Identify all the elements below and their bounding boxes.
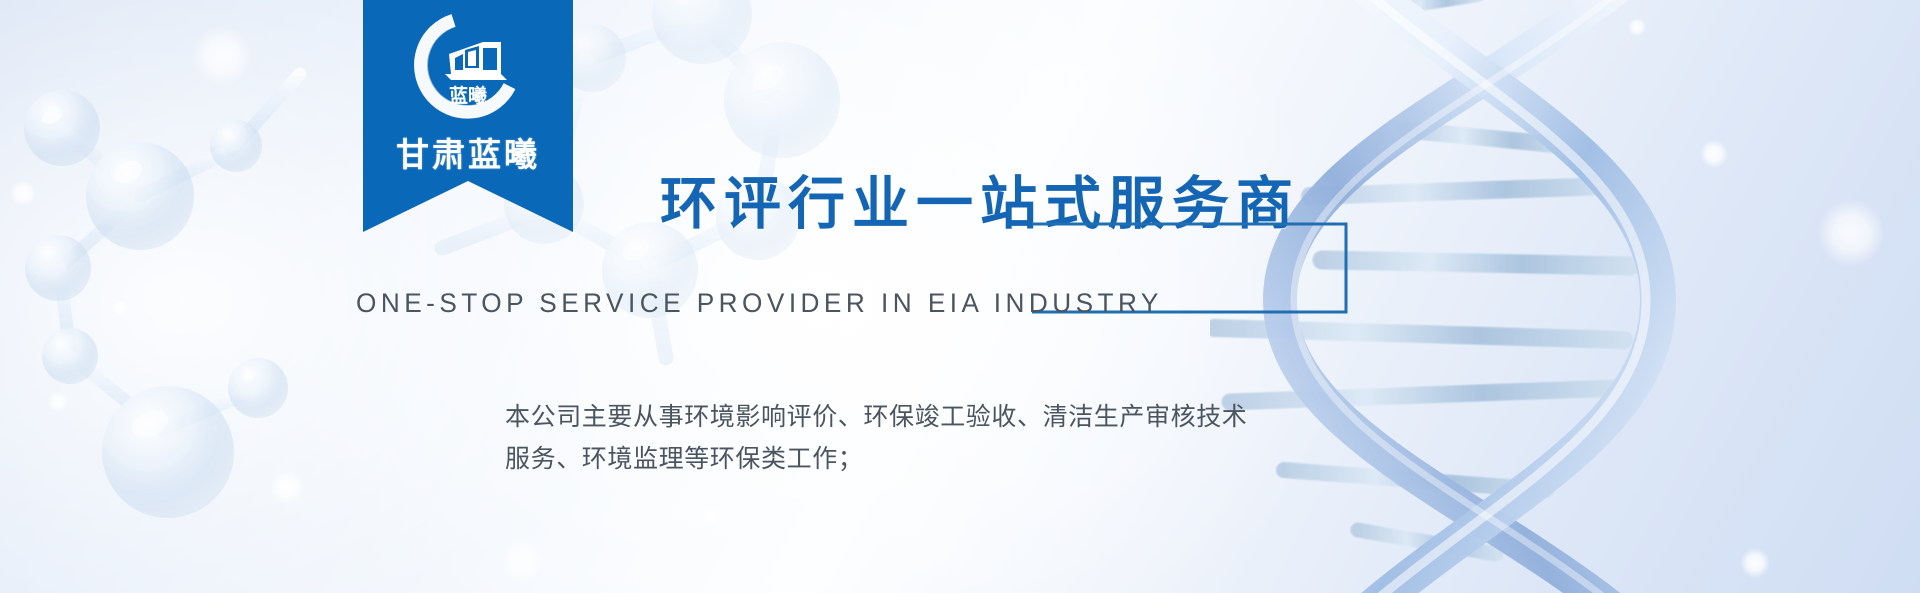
logo: 蓝曦	[363, 6, 573, 126]
company-short-name: 甘肃蓝曦	[363, 128, 573, 176]
bokeh-dot	[112, 300, 128, 316]
lanxi-circle-logo-icon: 蓝曦	[405, 10, 531, 122]
bokeh-dot	[1628, 18, 1646, 36]
page-subtitle: ONE-STOP SERVICE PROVIDER IN EIA INDUSTR…	[356, 288, 1163, 319]
bokeh-dot	[192, 26, 252, 86]
bokeh-dot	[1818, 200, 1884, 266]
bokeh-dot	[1700, 140, 1728, 168]
bokeh-dot	[1740, 548, 1770, 578]
bokeh-dot	[270, 470, 304, 504]
bokeh-dot	[700, 505, 722, 527]
intro-paragraph: 本公司主要从事环境影响评价、环保竣工验收、清洁生产审核技术 服务、环境监理等环保…	[505, 396, 1247, 480]
bokeh-dot	[500, 540, 544, 584]
hero-banner: 蓝曦 甘肃蓝曦 环评行业一站式服务商 ONE-STOP SERVICE PROV…	[0, 0, 1920, 593]
bokeh-dot	[48, 392, 68, 412]
bokeh-dot	[10, 180, 36, 206]
logo-text: 蓝曦	[449, 84, 487, 107]
